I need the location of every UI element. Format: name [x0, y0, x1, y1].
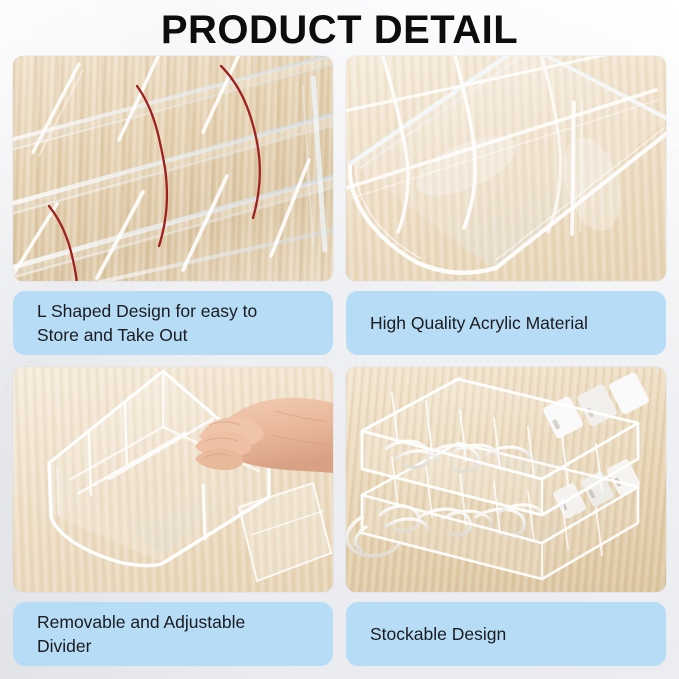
acrylic-corner-illustration	[346, 56, 666, 281]
hand-removing-divider-illustration	[13, 367, 333, 592]
caption-removable-divider: Removable and Adjustable Divider	[13, 602, 333, 666]
photo-removable-divider	[13, 367, 333, 592]
panel-l-shaped-design: L Shaped Design for easy to Store and Ta…	[13, 56, 333, 355]
caption-text: High Quality Acrylic Material	[370, 311, 588, 335]
photo-l-shaped-design	[13, 56, 333, 281]
panel-removable-divider: Removable and Adjustable Divider	[13, 367, 333, 666]
caption-stockable-design: Stockable Design	[346, 602, 666, 666]
panel-acrylic-material: High Quality Acrylic Material	[346, 56, 666, 355]
caption-l-shaped-design: L Shaped Design for easy to Store and Ta…	[13, 291, 333, 355]
caption-text: Removable and Adjustable Divider	[37, 610, 245, 658]
page-title: PRODUCT DETAIL	[0, 6, 679, 54]
caption-text: Stockable Design	[370, 622, 506, 646]
page-title-text: PRODUCT DETAIL	[161, 10, 518, 50]
acrylic-dividers-illustration	[13, 56, 333, 281]
hand	[195, 398, 333, 473]
photo-stockable-design	[346, 367, 666, 592]
panel-stockable-design: Stockable Design	[346, 367, 666, 666]
photo-acrylic-material	[346, 56, 666, 281]
product-detail-page: PRODUCT DETAIL	[0, 0, 679, 679]
stacked-boxes-illustration	[346, 367, 666, 592]
panel-grid: L Shaped Design for easy to Store and Ta…	[13, 56, 666, 666]
caption-text: L Shaped Design for easy to Store and Ta…	[37, 299, 257, 347]
caption-acrylic-material: High Quality Acrylic Material	[346, 291, 666, 355]
